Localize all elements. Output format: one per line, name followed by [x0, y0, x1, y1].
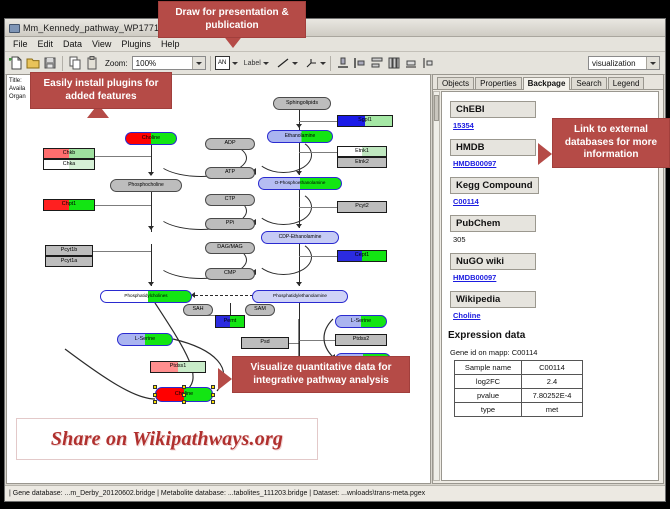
expr-value: 7.80252E-4: [522, 389, 583, 403]
pathway-gene-node[interactable]: Pcyt1b: [45, 245, 93, 256]
database-title: HMDB: [450, 139, 536, 156]
visualization-value: visualization: [592, 59, 636, 68]
callout-plugins: Easily install plugins for added feature…: [30, 72, 172, 109]
menu-item-view[interactable]: View: [87, 39, 116, 49]
selection-handle[interactable]: [182, 400, 186, 404]
menu-item-data[interactable]: Data: [58, 39, 87, 49]
database-value: 305: [453, 235, 658, 244]
table-row: Sample nameC00114: [455, 361, 583, 375]
node-label: ATP: [225, 170, 235, 175]
tab-label: Search: [576, 79, 601, 88]
pathway-gene-node[interactable]: Etnk1: [337, 146, 387, 157]
node-label: SAH: [192, 307, 203, 312]
pathway-gene-node[interactable]: Chkb: [43, 148, 95, 159]
pathway-gene-node[interactable]: Ptdss1: [150, 361, 206, 373]
node-label: Phosphatidylcholines: [124, 294, 167, 299]
expr-key: log2FC: [455, 375, 522, 389]
menu-bar: File Edit Data View Plugins Help: [5, 37, 665, 52]
node-label: Pemt: [224, 319, 237, 324]
pathway-metabolite-node[interactable]: Phosphatidylethanolamine: [252, 290, 348, 303]
node-label: Psd: [260, 340, 269, 345]
chevron-down-icon[interactable]: [320, 62, 326, 65]
callout-share-text: Share on Wikipathways.org: [51, 428, 283, 451]
pathway-metabolite-node[interactable]: DAG/MAG: [205, 242, 255, 254]
pathway-gene-node[interactable]: Pcyt1a: [45, 256, 93, 267]
selection-handle[interactable]: [153, 393, 157, 397]
branch-line-icon: [305, 57, 318, 69]
callout-share: Share on Wikipathways.org: [16, 418, 318, 460]
node-label: L-Serine: [135, 337, 155, 342]
pathway-metabolite-node[interactable]: CTP: [205, 194, 255, 206]
line-icon: [277, 57, 290, 69]
new-file-icon[interactable]: [8, 55, 24, 71]
pathway-gene-node[interactable]: Chka: [43, 159, 95, 170]
callout-visualize-text: Visualize quantitative data for integrat…: [251, 362, 392, 386]
chevron-down-icon[interactable]: [232, 62, 238, 65]
selection-handle[interactable]: [153, 385, 157, 389]
node-label: Sphingolipids: [286, 101, 318, 106]
line-tool[interactable]: [277, 57, 298, 69]
align-left-icon[interactable]: [352, 55, 368, 71]
pathway-gene-node[interactable]: Etnk2: [337, 157, 387, 168]
pathway-metabolite-node[interactable]: L-Serine: [117, 333, 173, 346]
pathway-metabolite-node[interactable]: CDP-Ethanolamine: [261, 231, 339, 244]
pathway-metabolite-node[interactable]: O-Phosphoethanolamine: [258, 177, 342, 190]
pathway-gene-node[interactable]: Pemt: [215, 315, 245, 328]
node-label: Choline: [142, 136, 160, 141]
selection-handle[interactable]: [211, 400, 215, 404]
menu-item-edit[interactable]: Edit: [33, 39, 59, 49]
expression-data-table: Sample nameC00114log2FC2.4pvalue7.80252E…: [454, 360, 583, 417]
tab-objects[interactable]: Objects: [437, 77, 474, 89]
tab-backpage[interactable]: Backpage: [523, 77, 571, 90]
align-bottom-icon[interactable]: [335, 55, 351, 71]
tab-legend[interactable]: Legend: [608, 77, 645, 89]
selection-handle[interactable]: [182, 393, 186, 397]
pathway-gene-node[interactable]: Ptdss2: [335, 334, 387, 346]
tab-label: Legend: [613, 79, 640, 88]
callout-links-text: Link to external databases for more info…: [565, 124, 657, 160]
chevron-down-icon[interactable]: [192, 57, 205, 69]
chevron-down-icon[interactable]: [263, 62, 269, 65]
database-link[interactable]: Choline: [453, 311, 658, 320]
node-label: Chka: [63, 162, 76, 167]
callout-links: Link to external databases for more info…: [552, 118, 670, 168]
status-bar: | Gene database: ...m_Derby_20120602.bri…: [5, 485, 665, 501]
distribute-horizontal-icon[interactable]: [386, 55, 402, 71]
tab-search[interactable]: Search: [571, 77, 606, 89]
pathway-metabolite-node[interactable]: SAH: [183, 304, 213, 316]
node-label: CTP: [225, 197, 236, 202]
pathway-gene-node[interactable]: Pcyt2: [337, 201, 387, 213]
zoom-label: Zoom:: [105, 59, 128, 68]
database-block-nugo-wiki: NuGO wikiHMDB00097: [450, 251, 658, 282]
pathway-metabolite-node[interactable]: Phosphocholine: [110, 179, 182, 192]
expr-value: met: [522, 403, 583, 417]
label-tool[interactable]: Label: [244, 60, 269, 67]
node-label: Chkb: [63, 151, 76, 156]
tab-label: Properties: [480, 79, 516, 88]
expr-value: 2.4: [522, 375, 583, 389]
selection-handle[interactable]: [211, 385, 215, 389]
callout-links-tail: [538, 143, 552, 165]
node-label: Phosphocholine: [128, 183, 164, 188]
selection-handle[interactable]: [211, 393, 215, 397]
table-row: typemet: [455, 403, 583, 417]
side-panel-tabs: ObjectsPropertiesBackpageSearchLegend: [433, 75, 663, 90]
selection-handle[interactable]: [182, 385, 186, 389]
chevron-down-icon[interactable]: [292, 62, 298, 65]
node-label: CMP: [224, 271, 236, 276]
stack-icon[interactable]: [403, 55, 419, 71]
menu-item-help[interactable]: Help: [156, 39, 185, 49]
database-link[interactable]: HMDB00097: [453, 273, 658, 282]
chevron-down-icon[interactable]: [646, 57, 659, 69]
scrollbar-thumb[interactable]: [434, 95, 439, 121]
expr-key: pvalue: [455, 389, 522, 403]
database-block-wikipedia: WikipediaCholine: [450, 289, 658, 320]
zoom-combobox[interactable]: 100%: [132, 56, 206, 70]
node-label: PPi: [226, 221, 234, 226]
node-label: Cept1: [355, 253, 369, 258]
callout-plugins-text: Easily install plugins for added feature…: [43, 78, 158, 102]
datanode-icon: AN: [215, 56, 230, 70]
pathway-metabolite-node[interactable]: Choline: [125, 132, 177, 145]
node-label: Phosphatidylethanolamine: [273, 294, 327, 299]
gene-id-on-mapp: Gene id on mapp: C00114: [450, 348, 658, 357]
pathway-gene-node[interactable]: Chpt1: [43, 199, 95, 211]
node-label: Etnk2: [355, 160, 369, 165]
table-row: log2FC2.4: [455, 375, 583, 389]
selection-handle[interactable]: [153, 400, 157, 404]
status-text: | Gene database: ...m_Derby_20120602.bri…: [5, 490, 425, 497]
pathway-metabolite-node[interactable]: Sphingolipids: [273, 97, 331, 110]
database-block-kegg-compound: Kegg CompoundC00114: [450, 175, 658, 206]
pathway-metabolite-node[interactable]: L-Serine: [335, 315, 387, 328]
callout-visualize: Visualize quantitative data for integrat…: [232, 356, 410, 393]
database-title: Kegg Compound: [450, 177, 539, 194]
paste-icon[interactable]: [84, 55, 100, 71]
expr-value: C00114: [522, 361, 583, 375]
node-label: SAM: [254, 307, 266, 312]
tab-label: Backpage: [528, 79, 566, 88]
node-label: Pcyt2: [355, 204, 368, 209]
toolbar-separator-2: [210, 56, 211, 71]
callout-draw-text: Draw for presentation & publication: [175, 7, 288, 31]
node-label: CDP-Ethanolamine: [279, 235, 322, 240]
expression-data-heading: Expression data: [448, 330, 658, 341]
node-label: Pcyt1b: [61, 248, 77, 253]
pathway-metabolite-node[interactable]: Ethanolamine: [267, 130, 333, 143]
pathway-metabolite-node[interactable]: ADP: [205, 138, 255, 150]
toolbar-separator-3: [330, 56, 331, 71]
pathway-gene-node[interactable]: Psd: [241, 337, 289, 349]
database-title: NuGO wiki: [450, 253, 536, 270]
menu-item-file[interactable]: File: [8, 39, 33, 49]
side-panel-scrollbar[interactable]: [433, 91, 440, 481]
group-icon[interactable]: [420, 55, 436, 71]
pathway-gene-node[interactable]: Sgpl1: [337, 115, 393, 127]
expr-key: Sample name: [455, 361, 522, 375]
node-label: Ethanolamine: [285, 134, 316, 139]
callout-draw: Draw for presentation & publication: [158, 1, 306, 38]
node-label: Chpt1: [62, 202, 76, 207]
datanode-tool[interactable]: AN: [215, 56, 238, 70]
pathway-metabolite-node[interactable]: Phosphatidylcholines: [100, 290, 192, 303]
table-row: pvalue7.80252E-4: [455, 389, 583, 403]
node-label: DAG/MAG: [217, 245, 242, 250]
open-folder-icon[interactable]: [25, 55, 41, 71]
anchor-line-tool[interactable]: [305, 57, 326, 69]
screen-root: Mm_Kennedy_pathway_WP1771_45176.gpml Fil…: [0, 0, 670, 509]
node-label: Ptdss1: [170, 364, 186, 369]
label-icon: Label: [244, 60, 261, 67]
zoom-value: 100%: [136, 59, 156, 68]
database-title: PubChem: [450, 215, 536, 232]
node-label: ADP: [224, 141, 235, 146]
pathway-metabolite-node[interactable]: CMP: [205, 268, 255, 280]
toolbar-separator-1: [62, 56, 63, 71]
copy-icon[interactable]: [67, 55, 83, 71]
pathway-metabolite-node[interactable]: SAM: [245, 304, 275, 316]
node-label: Ptdss2: [353, 337, 369, 342]
tab-label: Objects: [442, 79, 469, 88]
expr-key: type: [455, 403, 522, 417]
save-icon[interactable]: [42, 55, 58, 71]
node-label: L-Serine: [351, 319, 371, 324]
pathway-metabolite-node[interactable]: PPi: [205, 218, 255, 230]
node-label: Pcyt1a: [61, 259, 77, 264]
node-label: Sgpl1: [358, 118, 372, 123]
database-block-pubchem: PubChem305: [450, 213, 658, 244]
database-title: Wikipedia: [450, 291, 536, 308]
database-title: ChEBI: [450, 101, 536, 118]
title-bar: Mm_Kennedy_pathway_WP1771_45176.gpml: [5, 19, 665, 37]
database-link[interactable]: C00114: [453, 197, 658, 206]
tab-properties[interactable]: Properties: [475, 77, 521, 89]
node-label: Etnk1: [355, 149, 369, 154]
menu-item-plugins[interactable]: Plugins: [116, 39, 156, 49]
app-icon: [8, 22, 19, 33]
pathway-metabolite-node[interactable]: ATP: [205, 167, 255, 179]
visualization-combobox[interactable]: visualization: [588, 56, 660, 70]
callout-visualize-tail: [218, 368, 232, 390]
distribute-vertical-icon[interactable]: [369, 55, 385, 71]
pathway-gene-node[interactable]: Cept1: [337, 250, 387, 262]
node-label: O-Phosphoethanolamine: [275, 181, 326, 186]
